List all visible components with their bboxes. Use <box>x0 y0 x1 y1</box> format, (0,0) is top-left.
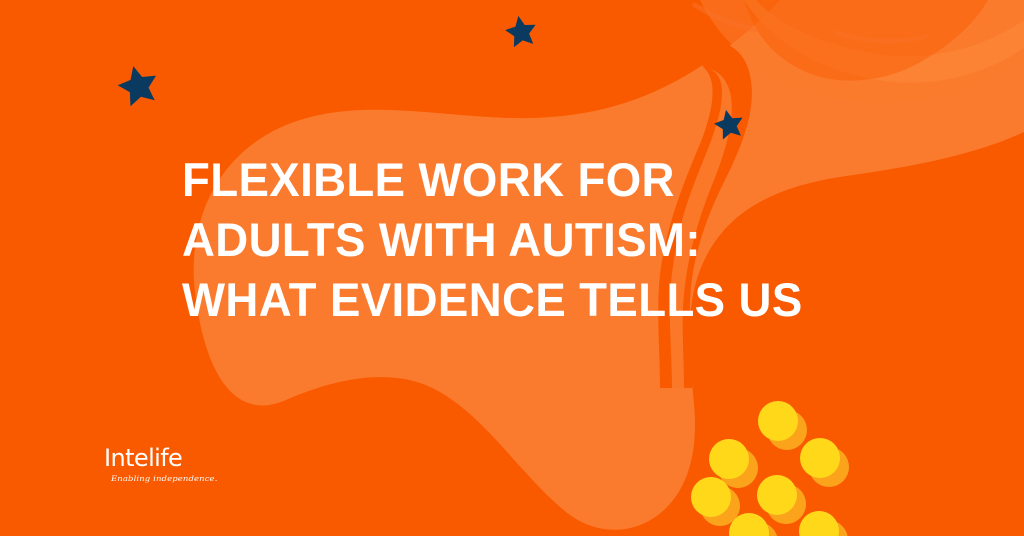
title-line-2: ADULTS WITH AUTISM: <box>182 210 919 270</box>
logo-wordmark: Intelife <box>104 446 224 470</box>
blog-banner-graphic: FLEXIBLE WORK FOR ADULTS WITH AUTISM: WH… <box>0 0 1024 536</box>
logo-tagline: Enabling independence. <box>111 474 224 485</box>
page-title: FLEXIBLE WORK FOR ADULTS WITH AUTISM: WH… <box>182 150 942 330</box>
title-line-3: WHAT EVIDENCE TELLS US <box>182 270 919 330</box>
dot-3 <box>800 438 840 478</box>
dot-4 <box>691 477 731 517</box>
intelife-logo: Intelife Enabling independence. <box>104 446 224 486</box>
title-line-1: FLEXIBLE WORK FOR <box>182 150 919 210</box>
dot-5 <box>757 475 797 515</box>
dot-2 <box>709 439 749 479</box>
dot-1 <box>758 401 798 441</box>
